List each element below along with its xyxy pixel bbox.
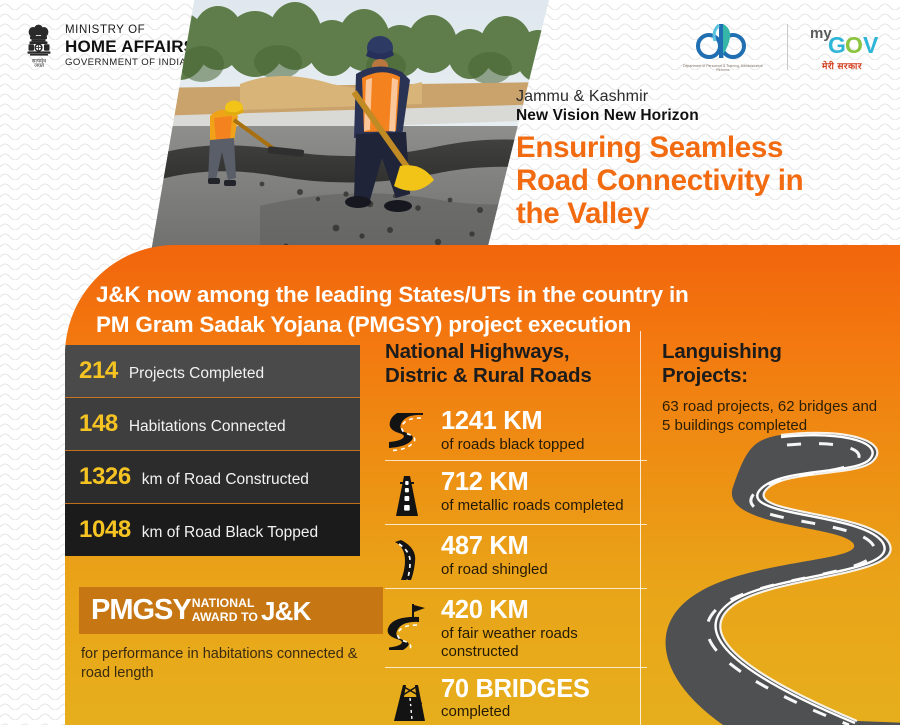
stat-number: 1048	[79, 516, 131, 544]
right-column: Languishing Projects: 63 road projects, …	[662, 340, 887, 435]
mygov-logo: my G O V मेरी सरकार	[806, 23, 878, 71]
middle-heading-line-1: National Highways,	[385, 340, 647, 364]
right-heading-line-1: Languishing	[662, 340, 887, 364]
road-construction-photo	[150, 0, 550, 258]
award-national-label: NATIONAL AWARD TO	[192, 597, 258, 623]
km-value: 1241 KM	[441, 408, 647, 435]
logo-divider	[787, 24, 788, 70]
hero-text-block: Jammu & Kashmir New Vision New Horizon E…	[516, 88, 888, 230]
highway-road-icon	[385, 469, 433, 518]
left-column: 214 Projects Completed 148 Habitations C…	[65, 345, 385, 682]
km-description: of fair weather roads constructed	[441, 625, 647, 661]
road-with-flag-icon	[385, 597, 433, 650]
km-value: 487 KM	[441, 533, 647, 560]
right-heading-line-2: Projects:	[662, 364, 887, 388]
stat-label: Habitations Connected	[129, 418, 286, 436]
km-text: 420 KM of fair weather roads constructed	[441, 597, 647, 661]
km-text: 487 KM of road shingled	[441, 533, 647, 579]
stat-number: 214	[79, 357, 118, 385]
stat-label: km of Road Constructed	[142, 471, 309, 489]
dopt-caption: Department of Personnel & Training, Admi…	[677, 64, 769, 73]
award-scheme: PMGSY	[91, 596, 191, 625]
middle-column: National Highways, Distric & Rural Roads	[385, 340, 647, 723]
infographic-page: सत्यमेव जयते MINISTRY OF HOME AFFAIRS GO…	[0, 0, 900, 725]
km-description: of roads black topped	[441, 436, 647, 454]
winding-road-illustration	[661, 425, 900, 725]
km-text: 70 BRIDGES completed	[441, 676, 647, 722]
stat-number: 148	[79, 410, 118, 438]
km-metrics-list: 1241 KM of roads black topped	[385, 400, 647, 723]
ministry-line-3: GOVERNMENT OF INDIA	[65, 57, 195, 68]
svg-text:G: G	[828, 32, 846, 58]
ministry-name: MINISTRY OF HOME AFFAIRS GOVERNMENT OF I…	[65, 24, 195, 68]
page-title-line-1: Ensuring Seamless	[516, 131, 888, 164]
award-national: NATIONAL	[192, 597, 258, 610]
partner-logos: Department of Personnel & Training, Admi…	[677, 16, 878, 78]
stat-number: 1326	[79, 463, 131, 491]
ministry-line-1: MINISTRY OF	[65, 24, 195, 37]
stat-row: 1048 km of Road Black Topped	[65, 504, 360, 556]
main-orange-panel: J&K now among the leading States/UTs in …	[65, 245, 900, 725]
km-description: completed	[441, 703, 647, 721]
middle-heading-line-2: Distric & Rural Roads	[385, 364, 647, 388]
km-row: 712 KM of metallic roads completed	[385, 460, 647, 518]
page-title: Ensuring Seamless Road Connectivity in t…	[516, 131, 888, 230]
ministry-logo-lockup: सत्यमेव जयते MINISTRY OF HOME AFFAIRS GO…	[22, 24, 195, 68]
stat-row: 214 Projects Completed	[65, 345, 360, 398]
stat-label: km of Road Black Topped	[142, 524, 318, 542]
header: सत्यमेव जयते MINISTRY OF HOME AFFAIRS GO…	[0, 0, 900, 250]
mygov-mark-icon: my G O V	[806, 23, 878, 59]
page-title-line-2: Road Connectivity in	[516, 164, 888, 197]
svg-text:O: O	[845, 32, 863, 58]
panel-headline-line-1: J&K now among the leading States/UTs in …	[96, 280, 876, 310]
km-description: of metallic roads completed	[441, 497, 647, 515]
ministry-line-2: HOME AFFAIRS	[65, 37, 195, 57]
mygov-hindi-text: मेरी सरकार	[822, 62, 862, 71]
svg-text:जयते: जयते	[34, 62, 45, 68]
hero-subtitle: New Vision New Horizon	[516, 107, 888, 125]
km-value: 70 BRIDGES	[441, 676, 647, 703]
km-row: 420 KM of fair weather roads constructed	[385, 588, 647, 661]
award-badge: PMGSY NATIONAL AWARD TO J&K	[79, 587, 383, 634]
km-row: 1241 KM of roads black topped	[385, 400, 647, 454]
km-value: 420 KM	[441, 597, 647, 624]
km-text: 1241 KM of roads black topped	[441, 408, 647, 454]
km-text: 712 KM of metallic roads completed	[441, 469, 647, 515]
stat-label: Projects Completed	[129, 365, 264, 383]
km-value: 712 KM	[441, 469, 647, 496]
middle-column-heading: National Highways, Distric & Rural Roads	[385, 340, 647, 388]
km-description: of road shingled	[441, 561, 647, 579]
winding-road-icon	[385, 408, 433, 453]
bridge-icon	[385, 676, 433, 723]
column-divider	[640, 331, 641, 725]
dopt-logo: Department of Personnel & Training, Admi…	[677, 22, 769, 73]
award-recipient: J&K	[261, 598, 311, 624]
stat-row: 1326 km of Road Constructed	[65, 451, 360, 504]
svg-text:V: V	[863, 32, 878, 58]
curved-road-icon	[385, 533, 433, 582]
panel-headline: J&K now among the leading States/UTs in …	[96, 280, 876, 339]
award-to: AWARD TO	[192, 611, 258, 624]
km-row: 70 BRIDGES completed	[385, 667, 647, 723]
stat-row: 148 Habitations Connected	[65, 398, 360, 451]
hero-kicker: Jammu & Kashmir	[516, 88, 888, 106]
ashoka-lion-capital-emblem-icon: सत्यमेव जयते	[22, 24, 56, 68]
stats-list: 214 Projects Completed 148 Habitations C…	[65, 345, 360, 556]
km-row: 487 KM of road shingled	[385, 524, 647, 582]
dpo-mark-icon	[692, 22, 754, 62]
right-column-heading: Languishing Projects:	[662, 340, 887, 388]
award-note: for performance in habitations connected…	[81, 645, 371, 682]
panel-headline-line-2: PM Gram Sadak Yojana (PMGSY) project exe…	[96, 310, 876, 340]
page-title-line-3: the Valley	[516, 197, 888, 230]
